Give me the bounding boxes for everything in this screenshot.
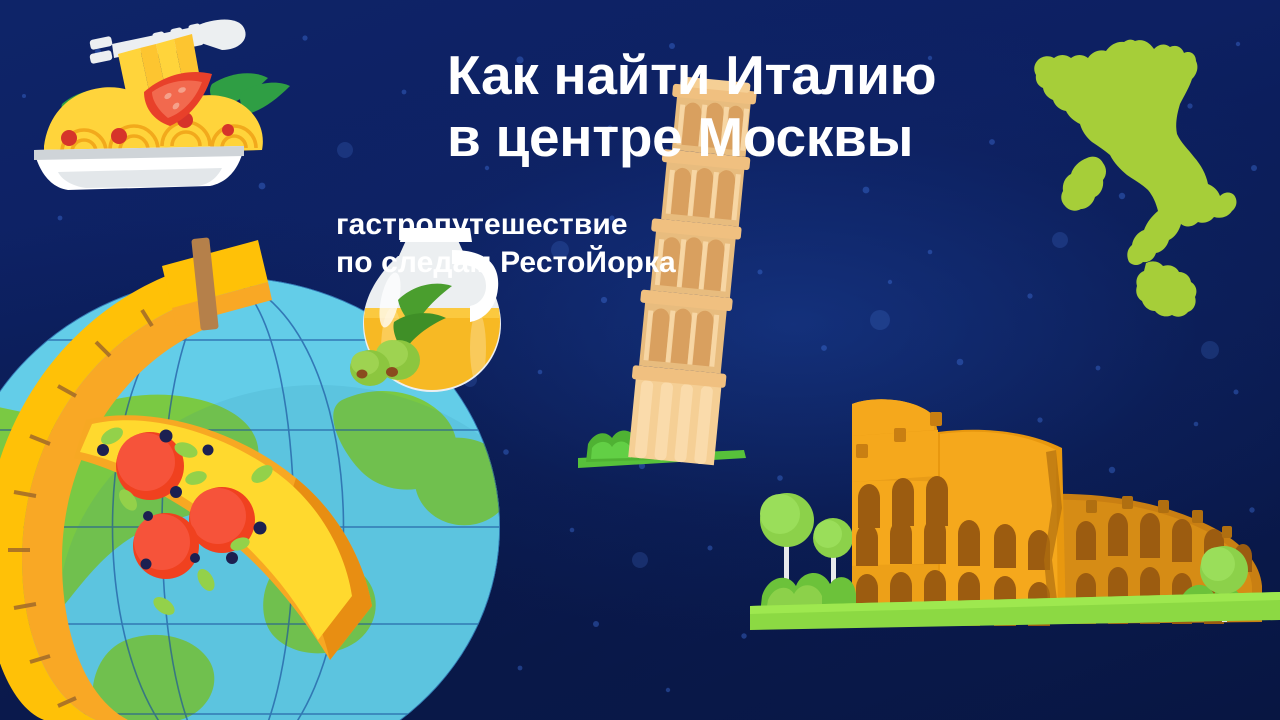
page-title: Как найти Италию в центре Москвы: [447, 44, 1067, 168]
colosseum-front-wall: [852, 399, 1066, 626]
page-subtitle: гастропутешествие по следам РестоЙорка: [336, 206, 676, 282]
poster-canvas: Как найти Италию в центре Москвы гастроп…: [0, 0, 1280, 720]
title-block: Как найти Италию в центре Москвы: [447, 44, 1067, 168]
